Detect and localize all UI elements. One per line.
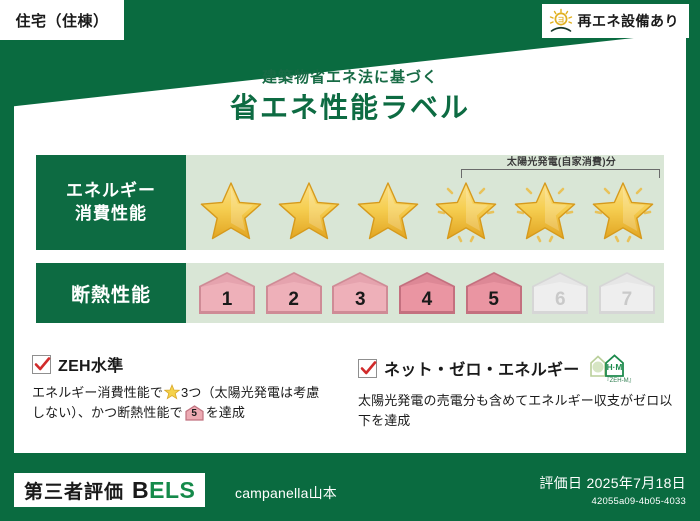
third-party-label: 第三者評価	[24, 477, 124, 504]
insulation-performance-body: 1 2 3 4 5 6	[186, 263, 664, 323]
energy-performance-body: 太陽光発電(自家消費)分	[186, 155, 664, 250]
label-subtitle: 建築物省エネ法に基づく	[0, 66, 700, 87]
zeh-m-logo: H·M 『ZEH-M』	[589, 352, 635, 384]
certificate-id: 42055a09-4b05-4033	[539, 496, 686, 507]
insulation-level-scale: 1 2 3 4 5 6	[196, 268, 658, 318]
netzero-criteria-text: 太陽光発電の売電分も含めてエネルギー収支がゼロ以下を達成	[358, 391, 673, 430]
bels-logo-b: B	[132, 477, 149, 503]
insulation-performance-row: 断熱性能 1 2 3 4 5	[36, 263, 664, 323]
svg-text:ヨ: ヨ	[557, 16, 564, 24]
energy-star	[508, 176, 582, 246]
insulation-level-number: 7	[596, 289, 658, 311]
insulation-level-4: 4	[396, 270, 458, 316]
zeh-star-count: 3つ	[181, 385, 201, 400]
insulation-level-number: 4	[396, 289, 458, 311]
netzero-checkbox[interactable]	[358, 359, 377, 378]
energy-star-rating	[194, 175, 660, 246]
insulation-level-number: 2	[263, 289, 325, 311]
bels-certification-badge: 第三者評価 BELS	[14, 473, 205, 507]
renewable-equipment-label: 再エネ設備あり	[578, 11, 680, 31]
insulation-level-number: 3	[329, 289, 391, 311]
energy-performance-label: エネルギー 消費性能	[36, 155, 186, 250]
svg-text:H·M: H·M	[606, 362, 622, 372]
insulation-level-7: 7	[596, 270, 658, 316]
renewable-equipment-badge: ヨ 再エネ設備あり	[542, 4, 690, 38]
zeh-text-part3: を達成	[206, 405, 245, 420]
insulation-performance-label: 断熱性能	[36, 263, 186, 323]
property-owner-name: campanella山本	[235, 483, 337, 503]
zeh-criteria-text: エネルギー消費性能で3つ（太陽光発電は考慮しない）、かつ断熱性能で5を達成	[32, 383, 332, 422]
insulation-level-number: 1	[196, 289, 258, 311]
zeh-criteria-block: ZEH水準 エネルギー消費性能で3つ（太陽光発電は考慮しない）、かつ断熱性能で5…	[32, 352, 332, 422]
energy-performance-row: エネルギー 消費性能 太陽光発電(自家消費)分	[36, 155, 664, 250]
energy-star	[586, 176, 660, 246]
energy-star	[429, 176, 503, 246]
inline-star-icon	[164, 384, 180, 400]
zeh-checkbox[interactable]	[32, 355, 51, 374]
evaluation-info: 評価日 2025年7月18日 42055a09-4b05-4033	[539, 473, 686, 507]
insulation-level-5: 5	[463, 270, 525, 316]
insulation-level-2: 2	[263, 270, 325, 316]
zeh-text-part1: エネルギー消費性能で	[32, 385, 163, 400]
energy-label-line2: 消費性能	[75, 203, 147, 226]
insulation-level-3: 3	[329, 270, 391, 316]
energy-star	[194, 176, 268, 246]
insulation-level-number: 5	[463, 289, 525, 311]
housing-type-badge: 住宅（住棟）	[0, 0, 124, 40]
sun-solar-icon: ヨ	[548, 8, 574, 34]
bels-logo-els: ELS	[149, 477, 195, 503]
netzero-criteria-header: ネット・ゼロ・エネルギー H·M 『ZEH-M』	[358, 352, 673, 384]
inline-house-icon: 5	[185, 405, 204, 421]
evaluation-date-value: 2025年7月18日	[586, 475, 686, 491]
energy-star	[272, 176, 346, 246]
label-title: 省エネ性能ラベル	[0, 86, 700, 126]
netzero-criteria-title: ネット・ゼロ・エネルギー	[384, 356, 580, 380]
bels-logo: BELS	[132, 477, 195, 504]
insulation-level-6: 6	[529, 270, 591, 316]
zeh-criteria-header: ZEH水準	[32, 352, 332, 376]
energy-label-line1: エネルギー	[66, 180, 156, 203]
zeh-criteria-title: ZEH水準	[58, 352, 124, 376]
energy-star	[351, 176, 425, 246]
inline-house-level: 5	[185, 406, 204, 421]
solar-portion-note: 太陽光発電(自家消費)分	[461, 153, 662, 168]
netzero-criteria-block: ネット・ゼロ・エネルギー H·M 『ZEH-M』 太陽光発電の売電分も含めてエネ…	[358, 352, 673, 430]
evaluation-date-label: 評価日	[539, 475, 582, 491]
evaluation-date: 評価日 2025年7月18日	[539, 473, 686, 493]
housing-type-label: 住宅（住棟）	[15, 10, 108, 31]
insulation-level-number: 6	[529, 289, 591, 311]
insulation-level-1: 1	[196, 270, 258, 316]
insulation-label-text: 断熱性能	[71, 280, 151, 307]
